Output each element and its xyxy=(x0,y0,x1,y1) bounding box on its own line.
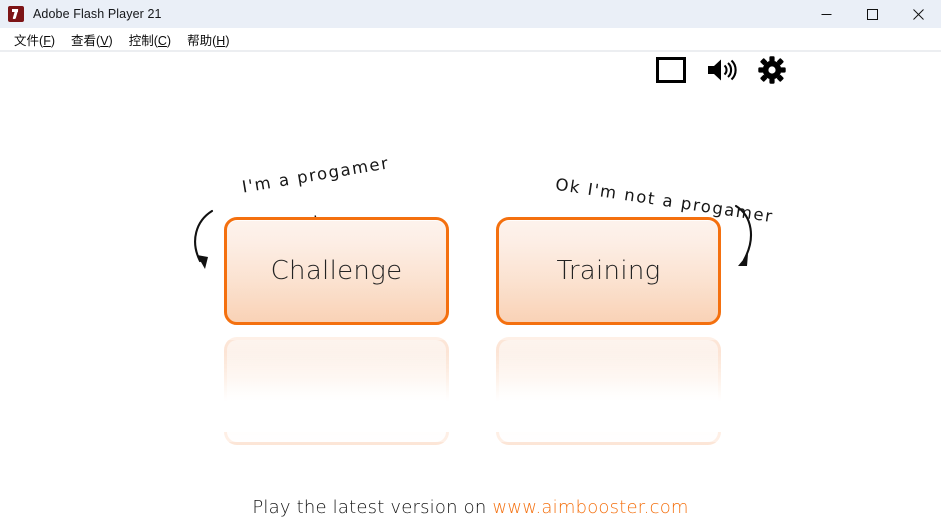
fullscreen-icon[interactable] xyxy=(656,57,686,83)
training-button-label: Training xyxy=(556,256,660,286)
menu-control-label: 控制 xyxy=(129,34,154,48)
menu-help[interactable]: 帮助(H) xyxy=(179,28,237,51)
stage-fade-overlay xyxy=(0,352,941,432)
menu-view[interactable]: 查看(V) xyxy=(63,28,121,51)
flash-stage: I'm a progamer I got this Ok I'm not a p… xyxy=(0,52,941,522)
volume-icon[interactable] xyxy=(706,57,738,83)
footer: Play the latest version on www.aimbooste… xyxy=(0,497,941,518)
maximize-icon xyxy=(867,9,878,20)
stage-icon-bar xyxy=(656,56,786,84)
minimize-button[interactable] xyxy=(803,0,849,28)
menu-bar: 文件(F) 查看(V) 控制(C) 帮助(H) xyxy=(0,28,941,50)
close-icon xyxy=(913,9,924,20)
menu-file-label: 文件 xyxy=(14,34,39,48)
menu-help-accel: H xyxy=(216,34,225,48)
annotation-left-line1: I'm a progamer xyxy=(241,154,391,197)
menu-file-accel: F xyxy=(43,34,51,48)
flash-player-icon xyxy=(8,6,24,22)
training-button[interactable]: Training xyxy=(496,217,721,325)
maximize-button[interactable] xyxy=(849,0,895,28)
flash-player-window: Adobe Flash Player 21 文件(F) 查看( xyxy=(0,0,941,522)
menu-help-label: 帮助 xyxy=(187,34,212,48)
window-controls xyxy=(803,0,941,28)
menu-control[interactable]: 控制(C) xyxy=(121,28,179,51)
challenge-button-label: Challenge xyxy=(271,256,403,286)
footer-text: Play the latest version on xyxy=(252,497,486,518)
menu-control-accel: C xyxy=(158,34,167,48)
menu-view-accel: V xyxy=(100,34,108,48)
minimize-icon xyxy=(821,9,832,20)
title-bar: Adobe Flash Player 21 xyxy=(0,0,941,28)
challenge-button-ghost xyxy=(224,337,449,445)
challenge-button[interactable]: Challenge xyxy=(224,217,449,325)
training-button-ghost xyxy=(496,337,721,445)
close-button[interactable] xyxy=(895,0,941,28)
menu-view-label: 查看 xyxy=(71,34,96,48)
settings-gear-icon[interactable] xyxy=(758,56,786,84)
menu-file[interactable]: 文件(F) xyxy=(6,28,63,51)
window-title: Adobe Flash Player 21 xyxy=(33,7,162,21)
footer-link[interactable]: www.aimbooster.com xyxy=(492,497,688,518)
